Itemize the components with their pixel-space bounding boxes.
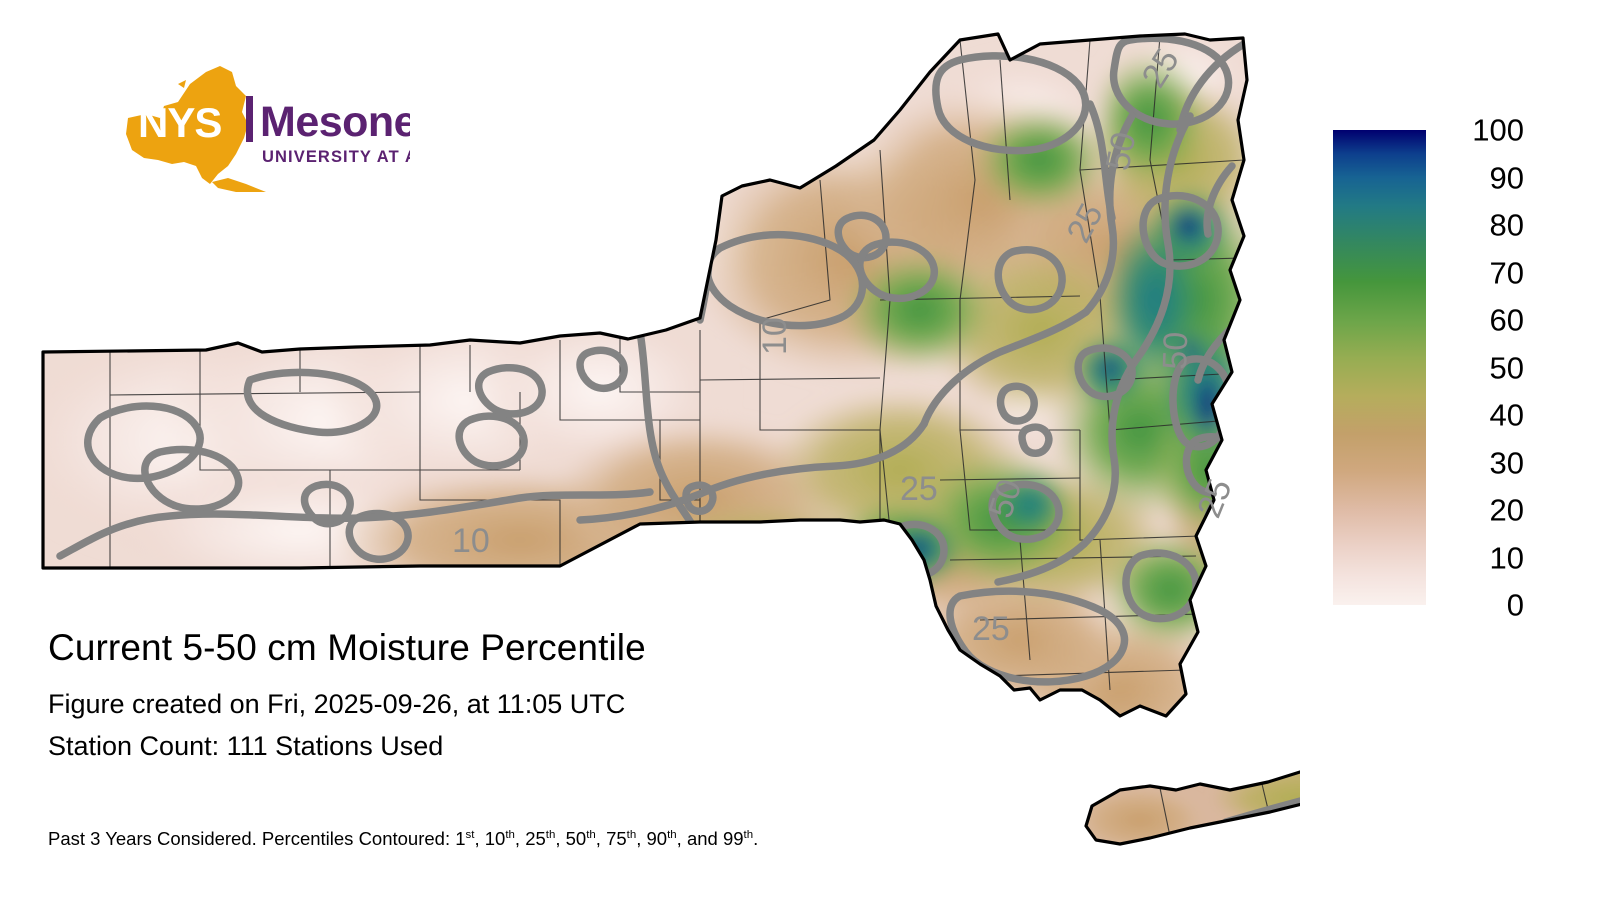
colorbar-tick-10: 10 <box>1490 542 1524 573</box>
page-title: Current 5-50 cm Moisture Percentile <box>48 625 1058 670</box>
colorbar-tick-70: 70 <box>1490 257 1524 288</box>
percentile-level-50: 50th <box>566 828 596 849</box>
logo-mesonet-text: Mesonet <box>260 98 410 146</box>
colorbar-tick-100: 100 <box>1472 115 1524 146</box>
logo-divider <box>246 96 253 142</box>
station-count: Station Count: 111 Stations Used <box>48 726 1058 768</box>
colorbar-tick-40: 40 <box>1490 400 1524 431</box>
colorbar-tick-50: 50 <box>1490 352 1524 383</box>
colorbar-tick-labels: 1009080706050403020100 <box>1432 130 1562 605</box>
percentile-level-10: 10th <box>485 828 515 849</box>
colorbar-tick-90: 90 <box>1490 162 1524 193</box>
nys-mesonet-logo: NYS Mesonet UNIVERSITY AT ALBANY <box>60 62 410 192</box>
colorbar: 1009080706050403020100 <box>1333 130 1583 610</box>
percentile-field-long-island <box>1040 700 1300 900</box>
colorbar-tick-30: 30 <box>1490 447 1524 478</box>
colorbar-tick-20: 20 <box>1490 495 1524 526</box>
colorbar-tick-0: 0 <box>1507 590 1524 621</box>
percentile-level-99: 99th <box>723 828 753 849</box>
figure-created-timestamp: Figure created on Fri, 2025-09-26, at 11… <box>48 684 1058 726</box>
colorbar-tick-60: 60 <box>1490 305 1524 336</box>
colorbar-tick-80: 80 <box>1490 210 1524 241</box>
percentile-level-90: 90th <box>647 828 677 849</box>
percentile-level-25: 25th <box>525 828 555 849</box>
logo-tagline: UNIVERSITY AT ALBANY <box>262 148 410 166</box>
figure-footnote: Past 3 Years Considered. Percentiles Con… <box>48 828 758 850</box>
contour-label-50: 50 <box>1156 331 1195 370</box>
logo-nys-text: NYS <box>138 99 221 146</box>
contour-label-50: 50 <box>1099 129 1144 174</box>
contour-label-10: 10 <box>756 317 794 355</box>
colorbar-gradient <box>1333 130 1426 605</box>
logo-accent-mark <box>178 80 186 88</box>
contour-label-25: 25 <box>900 470 938 508</box>
percentile-level-1: 1st <box>455 828 474 849</box>
long-island-silhouette <box>212 178 282 192</box>
percentile-level-75: 75th <box>606 828 636 849</box>
contour-label-10: 10 <box>452 522 490 560</box>
figure-caption: Current 5-50 cm Moisture Percentile Figu… <box>48 625 1058 768</box>
